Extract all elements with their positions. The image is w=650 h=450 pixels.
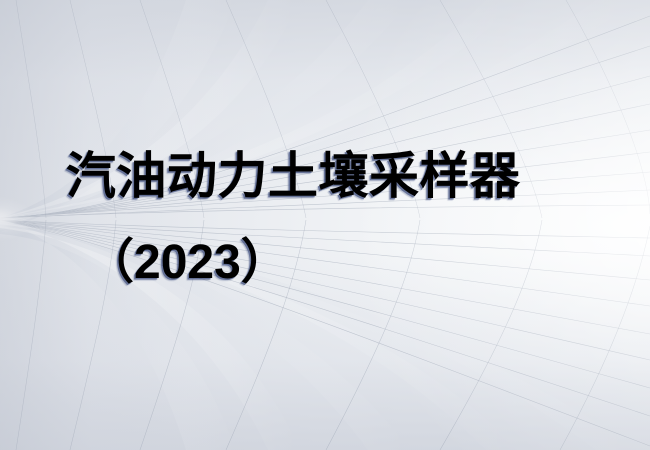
title-text-block: 汽油动力土壤采样器 （2023） xyxy=(0,0,650,450)
title-slide: 汽油动力土壤采样器 （2023） xyxy=(0,0,650,450)
slide-title: 汽油动力土壤采样器 xyxy=(66,148,521,204)
slide-title-year: （2023） xyxy=(86,235,289,291)
